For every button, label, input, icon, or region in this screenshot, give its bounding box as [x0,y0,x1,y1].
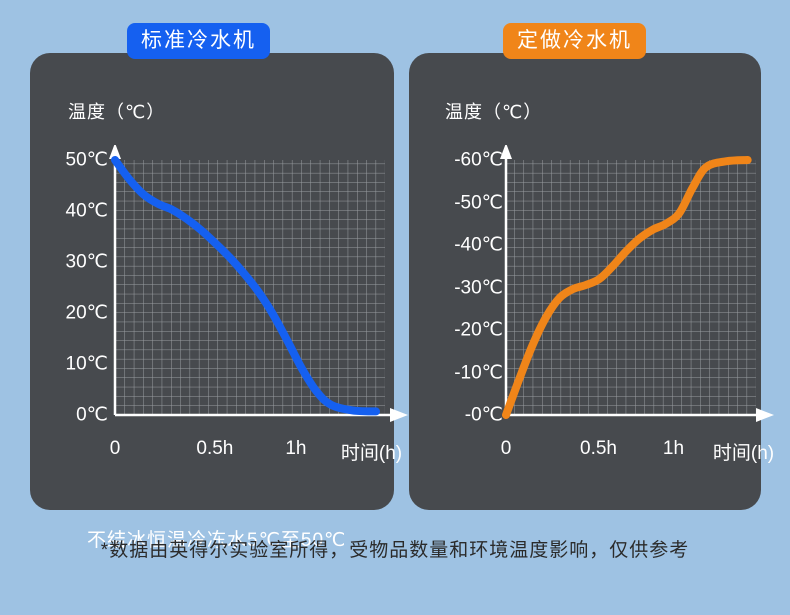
infographic-root: 标准冷水机 定做冷水机 温度（℃） 50℃40℃30℃20℃10℃0℃ [0,0,790,615]
badge-custom-chiller: 定做冷水机 [503,23,646,59]
y-axis-title-left: 温度（℃） [68,98,165,124]
chart-custom-chiller [449,145,774,435]
x-axis-labels-right: 00.5h1h时间(h) [449,438,774,466]
badge-standard-chiller: 标准冷水机 [127,23,270,59]
x-axis-arrow-right [756,408,774,422]
y-axis-title-right: 温度（℃） [445,98,542,124]
x-axis-labels-left: 00.5h1h时间(h) [78,438,408,466]
x-tick-label: 0 [110,438,121,460]
x-tick-label: 1h [663,438,684,460]
footnote-text: *数据由英得尔实验室所得，受物品数量和环境温度影响，仅供参考 [0,535,790,562]
x-tick-label: 时间(h) [713,438,774,465]
x-tick-label: 0 [501,438,512,460]
panel-custom-chiller: 温度（℃） -60℃-50℃-40℃-30℃-20℃-10℃-0℃ 00.5h1… [409,53,761,510]
chart-standard-chiller [78,145,408,435]
x-tick-label: 1h [285,438,306,460]
x-tick-label: 0.5h [580,438,617,460]
x-axis-arrow-left [390,408,408,422]
x-tick-label: 0.5h [196,438,233,460]
x-tick-label: 时间(h) [341,438,402,465]
grid-right [506,160,756,415]
y-axis-arrow-right [500,145,512,159]
panel-standard-chiller: 温度（℃） 50℃40℃30℃20℃10℃0℃ 00.5h1h时间(h) 不结冰… [30,53,394,510]
